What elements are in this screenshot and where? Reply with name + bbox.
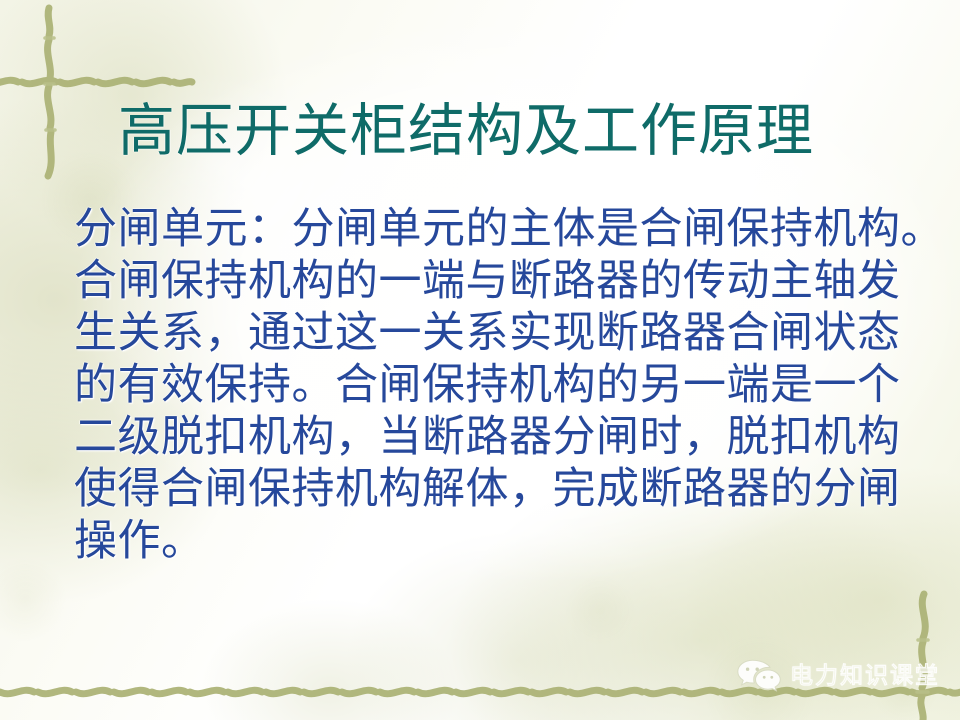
body-line: 生关系，通过这一关系实现断路器合闸状态 (74, 308, 936, 360)
body-line: 的有效保持。合闸保持机构的另一端是一个 (74, 360, 936, 412)
body-line: 操作。 (74, 516, 936, 568)
presentation-slide: 高压开关柜结构及工作原理 分闸单元：分闸单元的主体是合闸保持机构。 合闸保持机构… (0, 0, 960, 720)
watermark: 电力知识课堂 (736, 658, 940, 692)
body-line: 分闸单元：分闸单元的主体是合闸保持机构。 (74, 204, 936, 256)
wechat-icon (736, 658, 782, 692)
body-line: 二级脱扣机构，当断路器分闸时，脱扣机构 (74, 412, 936, 464)
slide-title: 高压开关柜结构及工作原理 (118, 96, 908, 168)
body-line: 合闸保持机构的一端与断路器的传动主轴发 (74, 256, 936, 308)
body-line: 使得合闸保持机构解体，完成断路器的分闸 (74, 464, 936, 516)
watermark-label: 电力知识课堂 (790, 660, 940, 690)
slide-body-text: 分闸单元：分闸单元的主体是合闸保持机构。 合闸保持机构的一端与断路器的传动主轴发… (74, 204, 936, 568)
